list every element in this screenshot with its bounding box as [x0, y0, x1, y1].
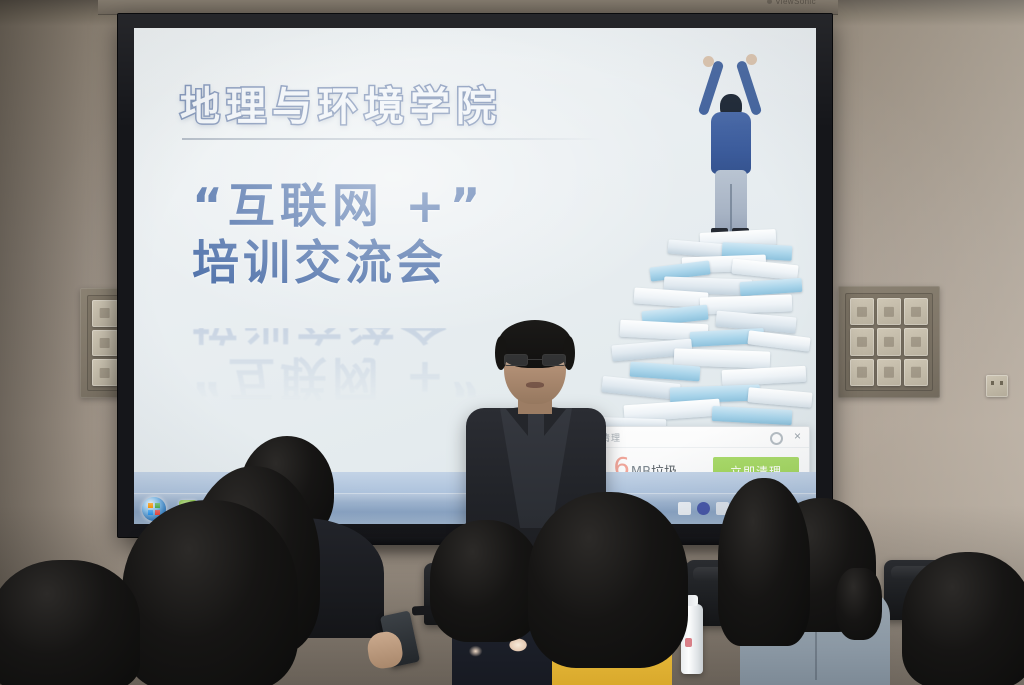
- wall-switch[interactable]: [877, 298, 901, 325]
- close-icon[interactable]: ×: [794, 429, 801, 443]
- wall-switch[interactable]: [850, 298, 874, 325]
- head-hair: [528, 492, 688, 668]
- figure-torso: [711, 112, 751, 174]
- head-hair: [0, 560, 140, 685]
- presenter-mouth: [526, 382, 544, 388]
- gear-icon[interactable]: [770, 432, 783, 445]
- wall-switch[interactable]: [850, 359, 874, 386]
- head-hair: [122, 500, 298, 685]
- figure-legs: [715, 170, 747, 232]
- wall-switch[interactable]: [92, 330, 118, 357]
- wall-switch[interactable]: [904, 298, 928, 325]
- wall-switch[interactable]: [877, 359, 901, 386]
- presentation-photo: ViewSonic 地理与环境学院 “互联网 +” 培训交流会 “互联网 +” …: [0, 0, 1024, 685]
- figure-hand-right: [746, 54, 757, 65]
- book: [740, 278, 803, 296]
- figure-hand-left: [703, 56, 714, 67]
- wall-switch-panel-right[interactable]: [838, 286, 940, 398]
- brand-dot-icon: [767, 0, 772, 4]
- wall-switch[interactable]: [904, 328, 928, 355]
- screen-brand-label: ViewSonic: [767, 0, 816, 6]
- wall-switch[interactable]: [904, 359, 928, 386]
- glasses-lens-left: [504, 354, 528, 366]
- glasses-bridge: [528, 359, 542, 360]
- projector-screen-housing: ViewSonic: [98, 0, 838, 15]
- slide-title-line-1: “互联网 +”: [192, 178, 592, 235]
- book: [700, 294, 793, 314]
- book: [747, 330, 810, 351]
- panel-inner-right: [845, 293, 933, 391]
- glasses-icon: [504, 354, 566, 366]
- book: [747, 387, 812, 408]
- book: [731, 259, 798, 281]
- head-hair: [430, 520, 542, 642]
- wall-switch[interactable]: [92, 359, 118, 386]
- book: [712, 406, 793, 425]
- wall-switch[interactable]: [92, 300, 118, 327]
- wall-switch[interactable]: [850, 328, 874, 355]
- book: [722, 366, 807, 386]
- slide-header-title: 地理与环境学院: [180, 74, 502, 132]
- ponytail: [836, 568, 882, 640]
- glasses-lens-right: [542, 354, 566, 366]
- head-hair: [902, 552, 1024, 685]
- slide-header-divider: [182, 138, 602, 140]
- wall-switch[interactable]: [877, 328, 901, 355]
- artwork-figure-icon: [690, 64, 770, 234]
- head-hair: [718, 478, 810, 646]
- slide-main-title: “互联网 +” 培训交流会: [192, 178, 592, 293]
- slide-title-line-2: 培训交流会: [192, 235, 592, 292]
- wall-outlet[interactable]: [986, 375, 1008, 397]
